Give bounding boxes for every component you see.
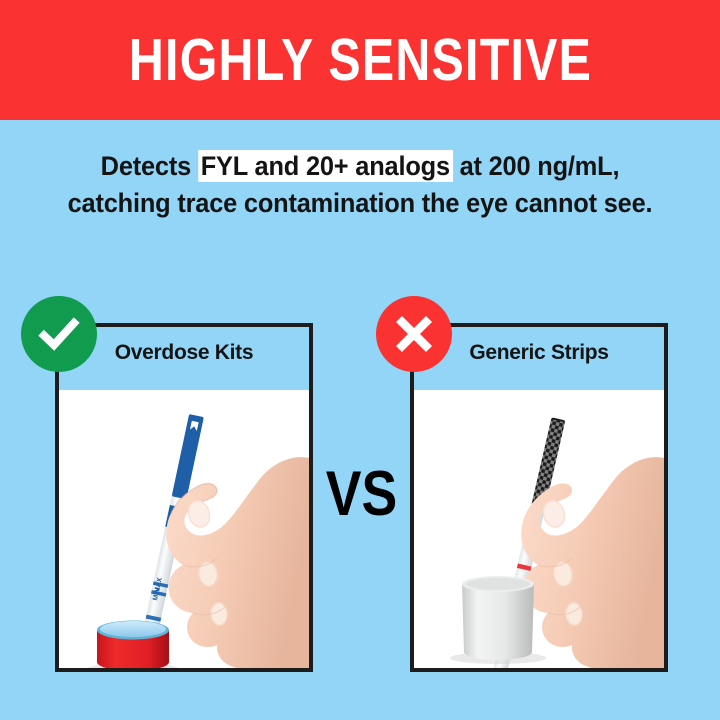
panel-title-left: Overdose Kits	[59, 341, 309, 365]
badge-pass	[21, 296, 97, 372]
header-banner: HIGHLY SENSITIVE	[0, 0, 720, 120]
check-icon	[37, 312, 81, 356]
badge-fail	[376, 296, 452, 372]
panel-overdose-kits: Overdose Kits	[55, 323, 313, 672]
sample-container-right	[450, 576, 546, 664]
subtitle-prefix: Detects	[101, 151, 198, 181]
poster-root: HIGHLY SENSITIVE Detects FYL and 20+ ana…	[0, 0, 720, 720]
sample-container-left	[85, 621, 181, 669]
subtitle-highlight: FYL and 20+ analogs	[198, 150, 453, 182]
subtitle-suffix: at 200 ng/mL,	[453, 151, 620, 181]
page-title: HIGHLY SENSITIVE	[128, 31, 591, 90]
cross-icon	[394, 314, 434, 354]
vs-label: VS	[320, 463, 402, 526]
photo-left: MAX MIN	[59, 390, 309, 668]
panel-title-right: Generic Strips	[414, 341, 664, 365]
subtitle-line-1: Detects FYL and 20+ analogs at 200 ng/mL…	[22, 148, 699, 185]
subtitle-line-2: catching trace contamination the eye can…	[22, 185, 699, 222]
subtitle-text: Detects FYL and 20+ analogs at 200 ng/mL…	[22, 148, 699, 222]
panel-generic-strips: Generic Strips	[410, 323, 668, 672]
illustration-dip-test-overdose-kit: MAX MIN	[59, 390, 309, 668]
illustration-dip-test-generic-strip	[414, 390, 664, 668]
photo-right	[414, 390, 664, 668]
